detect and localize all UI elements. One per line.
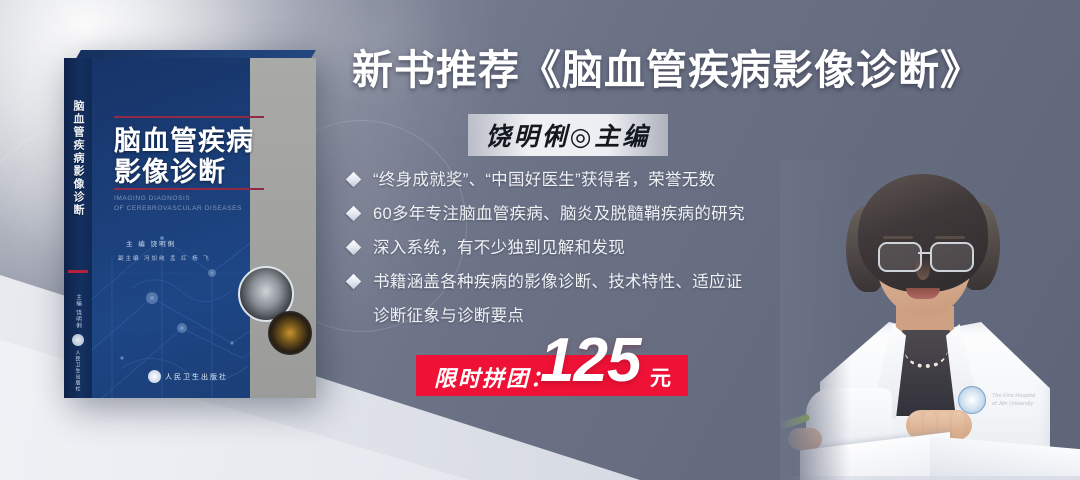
- cover-editor: 主 编 饶明俐: [126, 238, 176, 248]
- book-spine: 脑血管疾病影像诊断 主编 饶明俐 人民卫生出版社: [64, 58, 92, 398]
- eyebrow-right: [935, 236, 965, 239]
- diamond-bullet-icon: [346, 172, 362, 188]
- diamond-bullet-icon: [346, 240, 362, 256]
- diamond-bullet-icon: [346, 206, 362, 222]
- eyebrow-left: [883, 236, 913, 239]
- coat-embroidery-line2: of Jilin University: [992, 400, 1035, 408]
- doctor-portrait: The First Hospital of Jilin University: [780, 160, 1080, 480]
- book-spine-title: 脑血管疾病影像诊断: [70, 100, 86, 217]
- cover-publisher-name: 人民卫生出版社: [165, 372, 228, 382]
- eyeglasses-right-lens: [930, 242, 974, 272]
- promo-banner: 脑血管疾病影像诊断 主编 饶明俐 人民卫生出版社: [0, 0, 1080, 480]
- eyeglasses-bridge: [918, 252, 930, 254]
- cover-subtitle-en: IMAGING DIAGNOSIS OF CEREBROVASCULAR DIS…: [114, 194, 274, 214]
- page-title: 新书推荐《脑血管疾病影像诊断》: [352, 48, 1012, 93]
- cover-rule-top: [114, 116, 264, 118]
- list-item-label: “终身成就奖”、“中国好医生”获得者，荣誉无数: [373, 168, 715, 193]
- list-item-label: 深入系统，有不少独到见解和发现: [373, 236, 625, 261]
- finger: [952, 412, 964, 438]
- book-spine-rule: [68, 270, 88, 273]
- nose: [916, 258, 930, 280]
- cover-title-line2: 影像诊断: [114, 157, 274, 188]
- book-spine-editor: 主编 饶明俐: [74, 294, 82, 329]
- cover-subtitle-en-line2: OF CEREBROVASCULAR DISEASES: [114, 204, 274, 214]
- list-item-label: 60多年专注脑血管疾病、脑炎及脱髓鞘疾病的研究: [373, 202, 745, 227]
- open-book-right-page: [930, 436, 1080, 480]
- coat-embroidery-text: The First Hospital of Jilin University: [992, 392, 1035, 409]
- cover-title: 脑血管疾病 影像诊断: [114, 126, 274, 189]
- publisher-logo-icon: [72, 334, 84, 346]
- cover-title-line1: 脑血管疾病: [114, 126, 274, 157]
- cover-rule-bottom: [114, 188, 264, 190]
- author-name: 饶明俐◎主编: [468, 114, 668, 156]
- photo-edge-fade: [780, 160, 850, 480]
- book-product-image: 脑血管疾病影像诊断 主编 饶明俐 人民卫生出版社: [64, 50, 316, 398]
- cover-publisher-row: 人民卫生出版社: [148, 370, 228, 383]
- cover-subtitle-en-line1: IMAGING DIAGNOSIS: [114, 194, 274, 204]
- coat-embroidery-line1: The First Hospital: [992, 392, 1035, 400]
- angiography-scan-icon: [268, 311, 312, 355]
- price-amount: 125: [540, 330, 640, 392]
- book-front-cover: 脑血管疾病 影像诊断 IMAGING DIAGNOSIS OF CEREBROV…: [92, 58, 316, 398]
- publisher-logo-icon: [148, 370, 161, 383]
- finger: [910, 412, 922, 438]
- list-item-label: 书籍涵盖各种疾病的影像诊断、技术特性、适应证: [373, 270, 743, 295]
- cover-associate-editor: 副主编 冯加纯 孟 红 杨 飞: [118, 254, 211, 262]
- diamond-bullet-icon: [346, 274, 362, 290]
- price-label: 限时拼团：: [434, 361, 554, 393]
- hospital-emblem-icon: [958, 386, 986, 414]
- book-spine-publisher: 人民卫生出版社: [75, 350, 82, 392]
- price-unit: 元: [650, 362, 671, 392]
